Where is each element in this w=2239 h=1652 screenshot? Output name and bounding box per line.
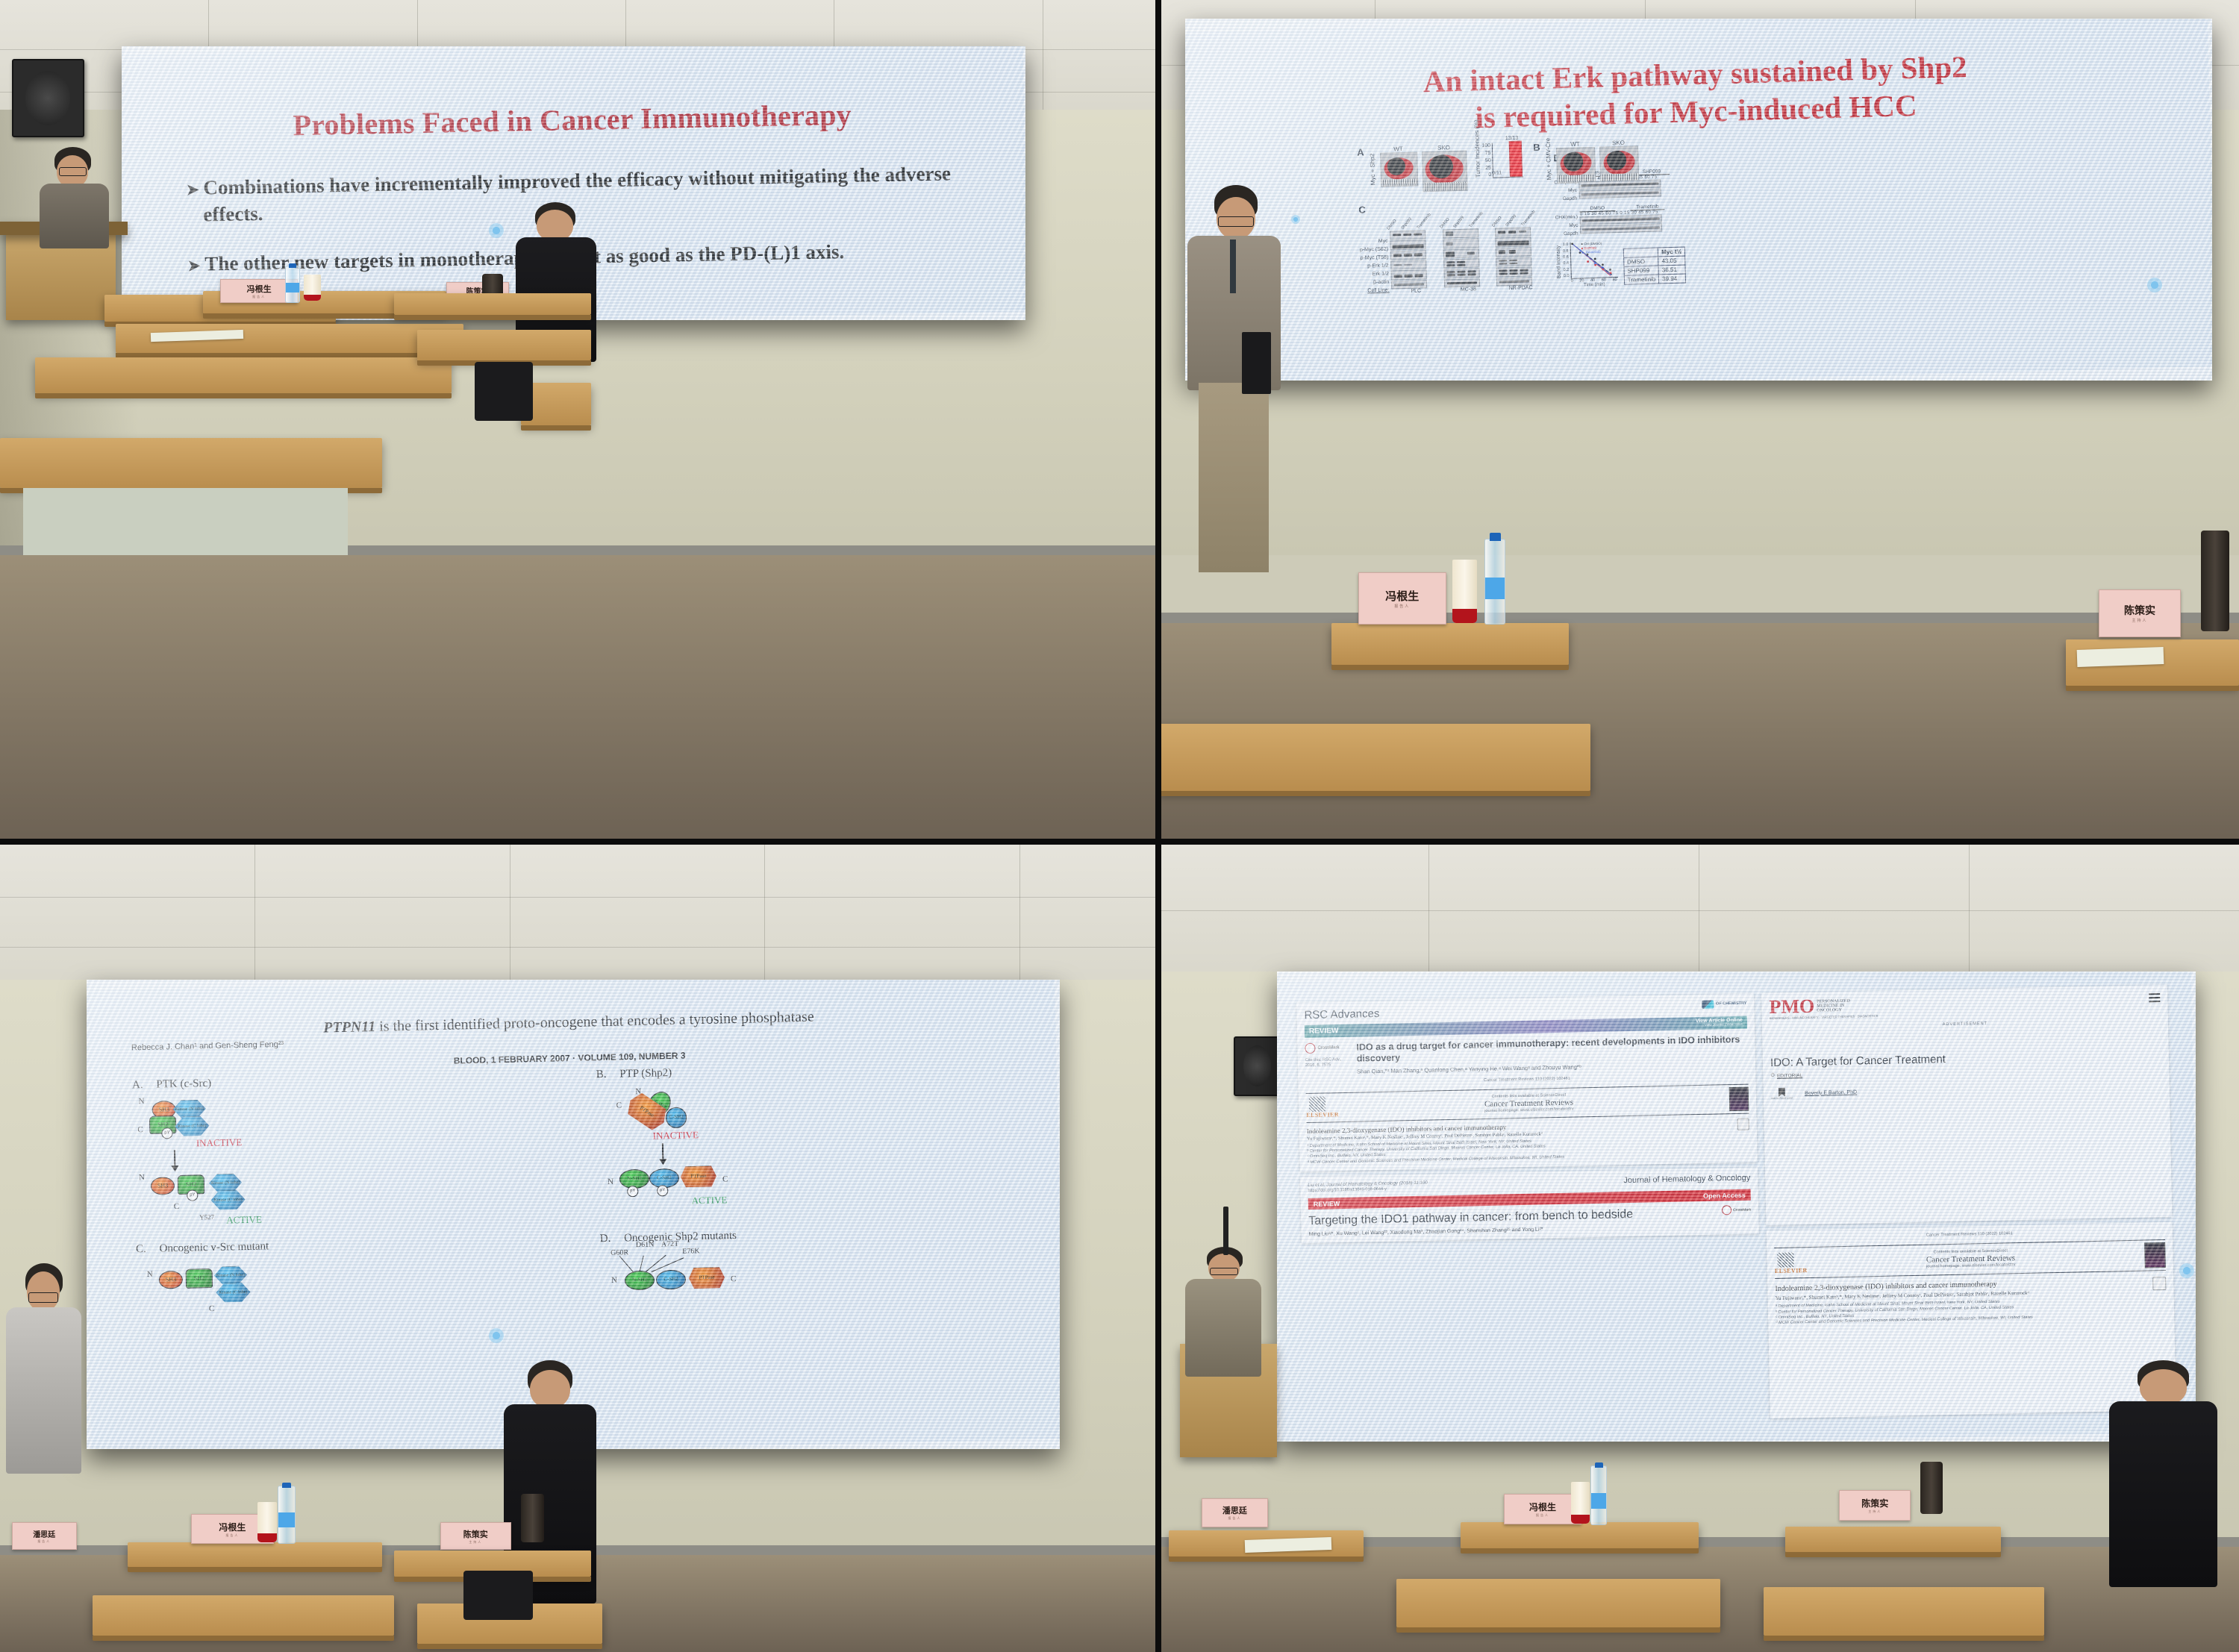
treatment: DMSO bbox=[1387, 219, 1398, 231]
treatment: DMSO bbox=[1439, 217, 1450, 229]
photo-panel-top-left: Problems Faced in Cancer Immunotherapy C… bbox=[0, 0, 1158, 842]
td: DMSO bbox=[1624, 257, 1659, 266]
chair bbox=[463, 1571, 533, 1619]
slide1-title: Problems Faced in Cancer Immunotherapy bbox=[175, 94, 970, 144]
glasses bbox=[1218, 216, 1254, 227]
nameplate-name: 潘思廷 bbox=[33, 1528, 55, 1539]
bookmark-icon[interactable] bbox=[1779, 1087, 1785, 1096]
rsc-journal-name: RSC Advances bbox=[1305, 1007, 1380, 1021]
projection-screen: RSC Advances OF CHEMISTRY REVIEW bbox=[1277, 972, 2196, 1442]
nameplate-name: 陈策实 bbox=[2124, 603, 2155, 618]
panel-A-label: A bbox=[1357, 147, 1364, 158]
desk-foreground bbox=[1158, 724, 1590, 791]
td: 43.05 bbox=[1658, 256, 1685, 266]
ctr2-masthead: ELSEVIER Contents lists available at Sci… bbox=[1775, 1239, 2166, 1279]
panel-B-label: B bbox=[1533, 142, 1540, 153]
baseboard bbox=[1158, 613, 2239, 623]
domain-kinase-c: Kinase (C lobe) bbox=[175, 1116, 210, 1136]
photo-panel-bottom-left: PTPN11 is the first identified proto-onc… bbox=[0, 842, 1158, 1652]
c-terminus: C bbox=[209, 1304, 215, 1312]
nameplate-sub: 报告人 bbox=[1228, 1516, 1241, 1521]
jho-badge-left: REVIEW bbox=[1314, 1200, 1340, 1208]
pmo-bookmark-label: Add to Read Later bbox=[1771, 1096, 1793, 1100]
panelC-row: p-Erk 1/2 bbox=[1361, 262, 1389, 271]
c-terminus: C bbox=[731, 1274, 737, 1283]
floor bbox=[0, 555, 1158, 842]
ytick: 100 bbox=[1482, 143, 1491, 148]
desk-foreground bbox=[0, 438, 382, 489]
domain-kinase-n: Kinase (N lobe) bbox=[214, 1265, 248, 1284]
desk-panel bbox=[23, 488, 348, 555]
domain-kinase-n: Kinase (N lobe) bbox=[173, 1099, 207, 1118]
glasses bbox=[59, 167, 87, 175]
lecture-room: RSC Advances OF CHEMISTRY REVIEW bbox=[1158, 842, 2239, 1652]
panelD-row: Myc bbox=[1555, 187, 1578, 195]
desk-right-mid bbox=[417, 330, 591, 360]
panel-C: C Myc p-Myc (S62) p-Myc (T58) p-Erk 1/2 … bbox=[1358, 199, 1545, 295]
slide2-figure: A Myc + Shp2 WT SKO bbox=[1357, 128, 2040, 295]
jho-title: Targeting the IDO1 pathway in cancer: fr… bbox=[1308, 1207, 1633, 1228]
lecture-room: Problems Faced in Cancer Immunotherapy C… bbox=[0, 0, 1158, 842]
legend-item: Ctrl (DMSO) bbox=[1584, 242, 1602, 246]
td: 39.94 bbox=[1659, 274, 1686, 284]
domain-kinase-c: Kinase (C lobe) bbox=[216, 1282, 252, 1302]
c-terminus: C bbox=[174, 1201, 180, 1210]
nameplate-name: 陈策实 bbox=[1861, 1497, 1888, 1509]
collage-seam-vertical bbox=[1155, 0, 1161, 1652]
nameplate-name: 潘思廷 bbox=[1222, 1504, 1247, 1516]
panelD-table: Myc t½ DMSO43.05 SHP09936.51 Trametinib3… bbox=[1623, 247, 1687, 285]
laptop-bag bbox=[1242, 332, 1271, 394]
nameplate-name: 冯根生 bbox=[247, 283, 272, 295]
down-arrow-icon bbox=[662, 1142, 663, 1159]
n-terminus: N bbox=[608, 1177, 613, 1186]
panelC-row: Myc bbox=[1360, 237, 1388, 246]
panelD-row: Gapdh bbox=[1555, 195, 1578, 204]
nameplate-sub: 报告人 bbox=[37, 1539, 51, 1544]
ctr2-running-head: Cancer Treatment Reviews 110 (2022) 1024… bbox=[1774, 1228, 2165, 1242]
th: Myc t½ bbox=[1658, 247, 1685, 257]
state-inactive: INACTIVE bbox=[653, 1128, 699, 1141]
panel-B-row-label: Myc + CMV-Cre bbox=[1545, 142, 1552, 181]
th bbox=[1623, 248, 1658, 257]
chair bbox=[475, 362, 533, 421]
nameplate-far-left: 潘思廷 报告人 bbox=[12, 1522, 77, 1550]
slide3-heading-gene: PTPN11 bbox=[323, 1018, 375, 1036]
treatment: Shp099 bbox=[1505, 214, 1518, 228]
projector-hotspot-icon[interactable] bbox=[1291, 215, 1300, 224]
ctr-cover-thumbnail bbox=[1729, 1086, 1749, 1111]
desk-center bbox=[1331, 623, 1570, 665]
bar-label-wt: 0/11 bbox=[1492, 170, 1502, 175]
slide-ido-papers: RSC Advances OF CHEMISTRY REVIEW bbox=[1277, 972, 2196, 1442]
src-tyrosine-label: Y527 bbox=[199, 1213, 214, 1220]
handout-sheets bbox=[2076, 647, 2164, 667]
slide-erk-pathway: An intact Erk pathway sustained by Shp2 … bbox=[1185, 19, 2212, 381]
presenter-person bbox=[1185, 1247, 1261, 1377]
nameplate-name: 冯根生 bbox=[219, 1521, 246, 1533]
state-active: ACTIVE bbox=[692, 1194, 728, 1207]
travel-mug bbox=[1920, 1462, 1943, 1515]
photo-panel-top-right: An intact Erk pathway sustained by Shp2 … bbox=[1158, 0, 2239, 842]
panelC-cellline-label: Cell Line: bbox=[1361, 287, 1389, 295]
domain-ptpase: PTPase bbox=[681, 1166, 717, 1187]
nameplate-right: 陈策实 主持人 bbox=[1839, 1490, 1911, 1521]
panelC-row: p-Myc (S62) bbox=[1360, 245, 1388, 254]
treatment: Trametinib bbox=[1521, 210, 1537, 228]
panel-label: D. bbox=[600, 1232, 611, 1244]
domain-kinase-n: Kinase (N lobe) bbox=[209, 1173, 243, 1192]
domain-c-sh2: C-SH2 bbox=[666, 1107, 687, 1128]
pmo-logo-subtitle: PERSONALIZED MEDICINE IN ONCOLOGY bbox=[1817, 997, 1860, 1013]
c-terminus: C bbox=[722, 1174, 728, 1183]
desk-foreground-right bbox=[1764, 1587, 2044, 1636]
nameplate-right: 陈策实 主持人 bbox=[440, 1522, 511, 1550]
n-terminus: N bbox=[139, 1172, 145, 1181]
nameplate-center: 冯根生 报告人 bbox=[1358, 572, 1446, 625]
desk-center bbox=[128, 1542, 382, 1567]
paper-pmo: PMO PERSONALIZED MEDICINE IN ONCOLOGY BI… bbox=[1761, 984, 2172, 1225]
nameplate-center: 冯根生 报告人 bbox=[1504, 1494, 1581, 1524]
panelC-row: Erk 1/2 bbox=[1361, 270, 1389, 279]
ceiling bbox=[0, 842, 1158, 987]
projection-screen-frame: An intact Erk pathway sustained by Shp2 … bbox=[1185, 19, 2212, 381]
domain-ptpase: PTPase bbox=[689, 1267, 725, 1289]
slide3-panel-A: A. PTK (c-Src) bbox=[132, 1069, 544, 1092]
pmo-author[interactable]: Beverly E Barton, PhD bbox=[1805, 1089, 1857, 1095]
table-row: Trametinib39.94 bbox=[1624, 274, 1686, 284]
jho-journal-title: Journal of Hematology & Oncology bbox=[1624, 1173, 1751, 1185]
trousers bbox=[1199, 383, 1269, 572]
ytick: 0.6 bbox=[1563, 255, 1569, 260]
panel-title: PTK (c-Src) bbox=[157, 1077, 212, 1090]
travel-mug bbox=[2201, 531, 2229, 631]
rsc-logo-icon bbox=[1702, 1000, 1714, 1008]
panel-title: PTP (Shp2) bbox=[619, 1066, 672, 1080]
bar-label-sko: 13/13 bbox=[1505, 136, 1519, 141]
pmo-kicker[interactable]: EDITORIAL bbox=[1777, 1072, 1802, 1078]
nameplate-sub: 主持人 bbox=[2132, 618, 2148, 623]
paper-cup bbox=[1452, 560, 1477, 623]
crossmark-label: CrossMark bbox=[1733, 1207, 1751, 1213]
pmo-logo: PMO bbox=[1770, 998, 1815, 1015]
crossmark-icon bbox=[1737, 1118, 1749, 1130]
desk-row-3 bbox=[35, 357, 452, 392]
panelD-row: Gapdh bbox=[1555, 230, 1578, 239]
treatment: DMSO bbox=[1491, 216, 1502, 228]
glasses bbox=[1210, 1268, 1238, 1276]
domain-kinase-c: Kinase (C lobe) bbox=[211, 1189, 246, 1210]
panelC-group: DMSO Shp099 Trametinib bbox=[1442, 212, 1493, 293]
n-terminus: N bbox=[139, 1096, 145, 1105]
paper-cup bbox=[257, 1502, 277, 1542]
xtick: 0 bbox=[1571, 279, 1573, 284]
projection-screen: An intact Erk pathway sustained by Shp2 … bbox=[1185, 19, 2212, 381]
down-arrow-icon bbox=[174, 1149, 175, 1166]
panelD-plot-xlabel: Time (min) bbox=[1571, 282, 1618, 288]
td: 36.51 bbox=[1658, 265, 1685, 275]
suit-jacket bbox=[1185, 1279, 1261, 1376]
panelC-row: p-Myc (T58) bbox=[1360, 254, 1388, 263]
microphone bbox=[1223, 1207, 1228, 1255]
treatment: Shp099 bbox=[1453, 216, 1466, 229]
slide3-panel-C: C. Oncogenic v-Src mutant bbox=[136, 1233, 548, 1256]
projector-hotspot-icon[interactable] bbox=[489, 1328, 504, 1343]
paper-cup bbox=[304, 275, 321, 301]
ctr2-cover-thumbnail bbox=[2144, 1242, 2166, 1268]
desk-foreground bbox=[93, 1595, 394, 1636]
projection-screen-frame: RSC Advances OF CHEMISTRY REVIEW bbox=[1277, 972, 2196, 1442]
c-terminus: C bbox=[138, 1124, 144, 1133]
nameplate-sub: 主持人 bbox=[469, 1540, 482, 1545]
head bbox=[27, 1271, 60, 1312]
paper-cup bbox=[1571, 1482, 1590, 1524]
nameplate-sub: 报告人 bbox=[252, 295, 266, 299]
panelC-row: β-actin bbox=[1361, 278, 1389, 287]
water-bottle bbox=[278, 1486, 296, 1544]
ytick: 0.8 bbox=[1563, 248, 1569, 253]
c-terminus: C bbox=[616, 1101, 622, 1110]
panelC-group: DMSO Shp099 Trametinib bbox=[1494, 210, 1545, 292]
projector-hotspot-icon[interactable] bbox=[2179, 1263, 2194, 1278]
domain-sh2: SH2 bbox=[186, 1268, 213, 1288]
hamburger-menu-icon[interactable] bbox=[2149, 990, 2160, 1004]
panelC-group: DMSO Shp099 Trametinib bbox=[1390, 213, 1440, 295]
crossmark-icon bbox=[1305, 1042, 1316, 1053]
jacket bbox=[6, 1307, 81, 1474]
rsc-badge: REVIEW bbox=[1309, 1026, 1339, 1035]
lecture-room: An intact Erk pathway sustained by Shp2 … bbox=[1158, 0, 2239, 842]
n-terminus: N bbox=[611, 1275, 617, 1284]
desk-right bbox=[1785, 1527, 2002, 1553]
projector-hotspot-icon[interactable] bbox=[489, 223, 504, 238]
ytick: 0.4 bbox=[1563, 261, 1569, 266]
elsevier-tree-icon bbox=[1778, 1252, 1794, 1267]
audience-person bbox=[2109, 1360, 2217, 1587]
treatment: Trametinib bbox=[1416, 213, 1431, 231]
ceiling bbox=[1158, 842, 2239, 980]
crossmark-icon bbox=[1722, 1205, 1731, 1215]
elsevier-tree-icon bbox=[1309, 1097, 1325, 1112]
nameplate-name: 冯根生 bbox=[1529, 1501, 1556, 1513]
panel-A-row-label: Myc + Shp2 bbox=[1369, 146, 1376, 185]
panel-label: B. bbox=[596, 1068, 607, 1080]
nameplate-name: 陈策实 bbox=[463, 1528, 488, 1540]
rsc-cite: Cite this: RSC Adv., 2016, 6, 7575 bbox=[1305, 1057, 1352, 1069]
desk-center bbox=[1461, 1522, 1699, 1548]
pmo-advertisement: ADVERTISEMENT bbox=[1770, 1018, 2161, 1031]
desk-foreground bbox=[1396, 1579, 1720, 1627]
panel-B: B Myc + CMV-Cre WT SKO bbox=[1533, 139, 1639, 184]
nameplate-sub: 报告人 bbox=[225, 1533, 239, 1538]
slide3-panel-B: B. PTP (Shp2) bbox=[596, 1059, 1008, 1081]
panel-A: A Myc + Shp2 WT SKO bbox=[1357, 143, 1524, 194]
head bbox=[530, 1370, 571, 1409]
nameplate-left: 潘思廷 报告人 bbox=[1202, 1498, 1268, 1527]
panel-A-chart-ylabel: Tumor Incidences (%) bbox=[1474, 143, 1481, 178]
nameplate-sub: 主持人 bbox=[1868, 1509, 1882, 1514]
ytick: 0.2 bbox=[1564, 268, 1570, 272]
legend-item: Trametinib bbox=[1585, 250, 1601, 254]
ytick: 25 bbox=[1482, 165, 1491, 170]
jacket bbox=[2109, 1401, 2217, 1587]
xtick: 60 bbox=[1602, 278, 1606, 283]
state-inactive: INACTIVE bbox=[196, 1136, 243, 1148]
crossmark-label: CrossMark bbox=[1318, 1045, 1340, 1050]
treatment: Shp099 bbox=[1400, 217, 1413, 231]
travel-mug bbox=[521, 1494, 544, 1542]
jho-badge-right: Open Access bbox=[1703, 1191, 1746, 1199]
mutation-label-d61n: D61N bbox=[636, 1240, 655, 1249]
speaker-person bbox=[40, 147, 109, 248]
xtick: 80 bbox=[1613, 278, 1617, 282]
panel-title: Oncogenic v-Src mutant bbox=[160, 1239, 269, 1254]
necktie bbox=[1230, 240, 1236, 294]
water-bottle bbox=[1590, 1465, 1607, 1525]
treatment: Trametinib bbox=[1469, 211, 1484, 229]
panelD-row: Myc bbox=[1555, 222, 1578, 231]
nameplate-sub: 报告人 bbox=[1394, 604, 1410, 609]
suit-jacket bbox=[40, 184, 109, 248]
crossmark-icon bbox=[2152, 1277, 2166, 1290]
photo-panel-bottom-right: RSC Advances OF CHEMISTRY REVIEW bbox=[1158, 842, 2239, 1652]
ytick: 0 bbox=[1483, 172, 1492, 178]
panelD-plot-ylabel: Band Intensity bbox=[1556, 243, 1562, 278]
nameplate-right: 陈策实 主持人 bbox=[2099, 589, 2182, 637]
paper-jho: Liu et al. Journal of Hematology & Oncol… bbox=[1300, 1167, 1759, 1243]
ytick: 50 bbox=[1482, 157, 1491, 163]
panel-label: A. bbox=[132, 1078, 143, 1090]
clock-icon: ⏱ bbox=[1771, 1073, 1776, 1079]
photo-collage: Problems Faced in Cancer Immunotherapy C… bbox=[0, 0, 2239, 1652]
elsevier-logo: ELSEVIER bbox=[1775, 1267, 1797, 1274]
glasses bbox=[28, 1292, 58, 1302]
chx-label: CHX(min.) bbox=[1555, 213, 1578, 222]
nameplate-name: 冯根生 bbox=[1385, 588, 1419, 604]
wall-speaker bbox=[1234, 1036, 1280, 1096]
water-bottle bbox=[285, 266, 301, 302]
presenter-person bbox=[1185, 185, 1282, 572]
domain-sh3: SH3 bbox=[159, 1270, 184, 1289]
td: Trametinib bbox=[1624, 275, 1659, 284]
domain-sh3: SH3 bbox=[151, 1176, 175, 1195]
panel-label: C. bbox=[136, 1242, 146, 1254]
ytick: 75 bbox=[1482, 151, 1491, 156]
paper-rsc-advances: RSC Advances OF CHEMISTRY REVIEW bbox=[1296, 993, 1758, 1171]
ctr-masthead: ELSEVIER Contents lists available at Sci… bbox=[1306, 1083, 1749, 1122]
desk-right-front bbox=[394, 293, 591, 315]
state-active: ACTIVE bbox=[226, 1213, 262, 1226]
ytick: 1.0 bbox=[1563, 243, 1569, 247]
td: SHP099 bbox=[1624, 266, 1659, 275]
audience-person-left bbox=[6, 1263, 81, 1474]
wall-speaker bbox=[12, 59, 84, 138]
collage-seam-horizontal bbox=[0, 839, 2239, 845]
water-bottle bbox=[1484, 539, 1505, 625]
nameplate-sub: 报告人 bbox=[1536, 1513, 1549, 1518]
n-terminus: N bbox=[147, 1269, 153, 1278]
rsc-publisher: OF CHEMISTRY bbox=[1716, 1001, 1746, 1006]
lecture-room: PTPN11 is the first identified proto-onc… bbox=[0, 842, 1158, 1652]
rsc-title: IDO as a drug target for cancer immunoth… bbox=[1357, 1033, 1749, 1065]
ytick: 0.0 bbox=[1564, 274, 1570, 278]
mutation-label-a72t: A72T bbox=[661, 1239, 679, 1248]
elsevier-logo: ELSEVIER bbox=[1306, 1111, 1328, 1118]
head bbox=[2140, 1369, 2188, 1406]
